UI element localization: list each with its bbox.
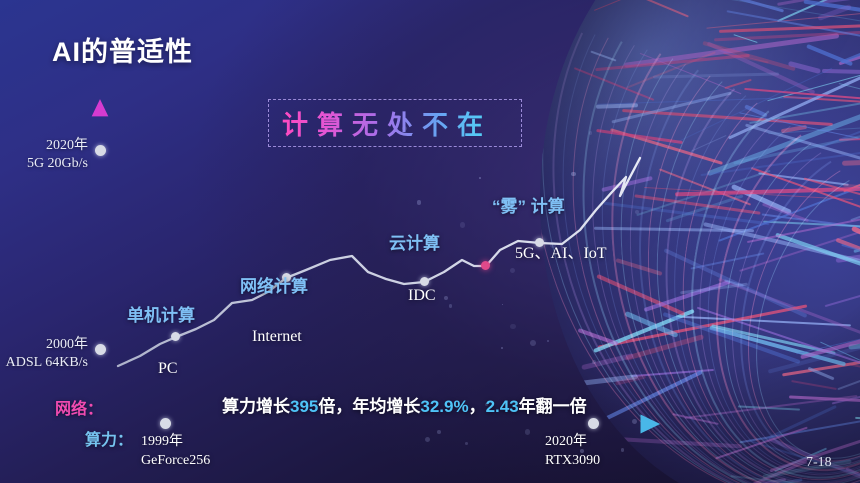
compute-axis-label: 算力： [85,432,133,450]
era-label-cloud-computing: 云计算 [389,234,440,254]
era-label-network-computing: 网络计算 [240,277,308,297]
node-label-pc: PC [158,360,178,378]
era-label-standalone-computing: 单机计算 [127,306,195,326]
stat-number-395: 395 [290,397,318,416]
stat-number-243: 2.43 [486,397,519,416]
node-label-idc: IDC [408,287,436,305]
marker-network-2020 [95,145,106,156]
node-label-5g-ai-iot: 5G、AI、IoT [515,245,607,263]
network-bottom-spec: ADSL 64KB/s [0,355,88,371]
network-bottom-year: 2000年 [0,337,88,353]
era-label-fog-computing: “雾” 计算 [492,197,565,217]
marker-pc [171,332,180,341]
growth-statistic: 算力增长395倍，年均增长32.9%，2.43年翻一倍 [222,392,587,417]
marker-geforce256 [160,418,171,429]
stat-part-4: 年翻一倍 [519,397,587,416]
stat-part-1: 算力增长 [222,397,290,416]
compute-start-year: 1999年 [141,434,183,450]
node-label-internet: Internet [252,328,302,346]
stat-part-2: 倍，年均增长 [318,397,420,416]
network-top-year: 2020年 [0,138,88,154]
compute-end-product: RTX3090 [545,453,600,469]
slide-canvas: AI的普适性 计算无处不在 [0,0,860,483]
marker-transition [481,261,490,270]
network-top-spec: 5G 20Gb/s [0,156,88,172]
compute-start-product: GeForce256 [141,453,210,469]
page-number: 7-18 [806,455,832,471]
network-axis-label: 网络： [55,401,103,419]
stat-number-329pct: 32.9% [420,397,468,416]
compute-end-year: 2020年 [545,434,587,450]
marker-idc [420,277,429,286]
marker-network-2000 [95,344,106,355]
stat-part-3: ， [469,397,486,416]
marker-rtx3090 [588,418,599,429]
